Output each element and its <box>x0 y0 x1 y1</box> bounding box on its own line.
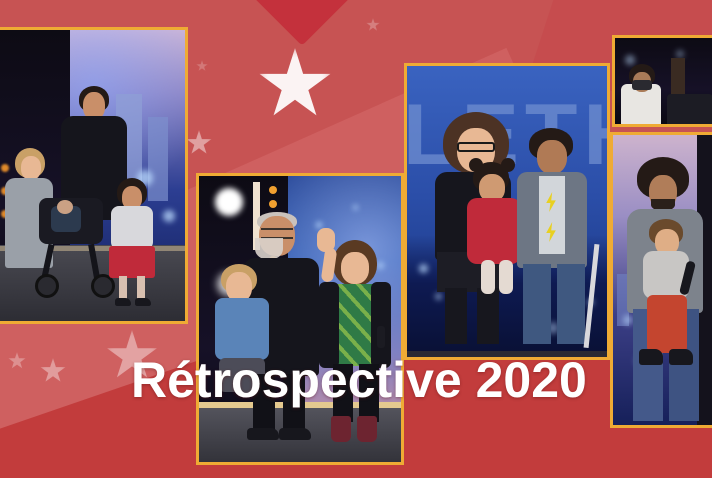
photo-thumbnail-5 <box>612 35 712 127</box>
photo-thumbnail-1 <box>0 27 188 324</box>
page-title: Rétrospective 2020 <box>131 352 587 408</box>
poster-canvas: LETH <box>0 0 712 478</box>
photo-thumbnail-2 <box>196 173 404 465</box>
photo-thumbnail-4 <box>610 132 712 428</box>
photo-thumbnail-3: LETH <box>404 63 610 360</box>
